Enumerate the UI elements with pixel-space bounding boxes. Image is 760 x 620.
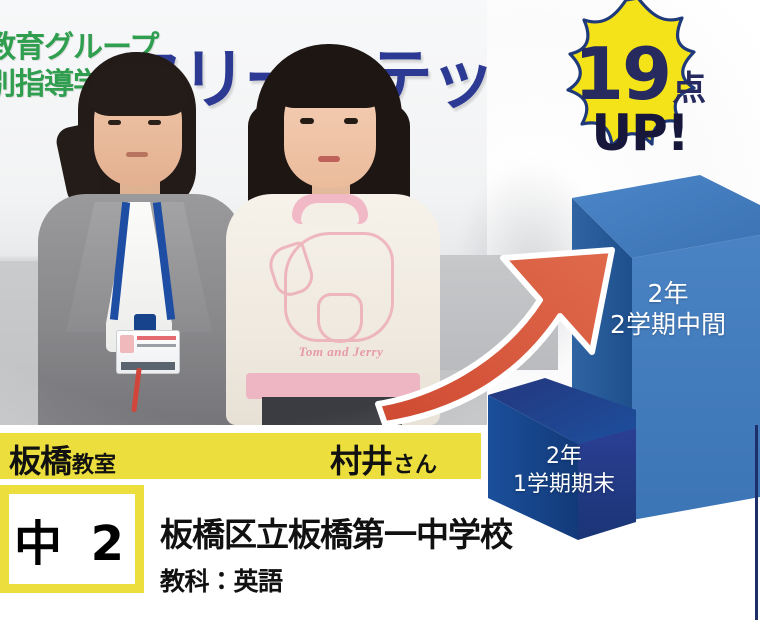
bar-label-line2: 2学期中間 [610,310,726,339]
student-collar [292,194,368,224]
classroom-name: 板橋 [9,436,71,482]
bar-label-line2: 1学期期末 [513,472,615,497]
bar-label-line1: 2年 [546,444,582,469]
instructor-figure [38,52,243,425]
photo-grey-extension [440,255,558,370]
instructor-id-badge [116,330,180,374]
instructor-eye-right [148,120,161,125]
grade-text: 中 2 [14,504,130,574]
badge-points-number: 19 [574,38,670,110]
student-pants [262,397,402,425]
badge-up-label: UP! [591,108,688,158]
school-name: 板橋区立板橋第一中学校 [160,508,490,556]
student-honorific: さん [393,447,437,479]
badge-points-unit: 点 [672,72,706,106]
student-name: 村井 [330,436,392,482]
subject-name: 教科：英語 [160,562,283,598]
classroom-suffix: 教室 [72,447,116,479]
bar-label-2nd-term-midterm: 2年 2学期中間 [588,278,748,341]
student-figure: Tom and Jerry [218,44,448,425]
student-fringe [276,58,384,108]
instructor-fringe [88,64,188,116]
score-up-badge: 19 点 UP! [512,0,760,190]
student-shirt-text: Tom and Jerry [276,344,406,360]
student-photo: 教育グループ別指導学 フリーステップ [0,0,487,425]
bar-label-1st-term-final: 2年 1学期期末 [494,443,634,498]
student-eye-left [300,118,314,124]
student-name-label: 村井 さん [330,436,437,482]
instructor-mouth [126,152,148,157]
result-card: 教育グループ別指導学 フリーステップ [0,0,760,620]
student-shirt-graphic [284,232,394,342]
student-eye-right [344,118,358,124]
grade-box: 中 2 [0,485,144,593]
student-sweatshirt-hem [246,373,420,399]
badge-points-line: 19 点 [574,38,706,110]
student-mouth [318,156,340,162]
classroom-label: 板橋 教室 [9,436,116,482]
badge-text-group: 19 点 UP! [514,0,760,196]
bar-label-line1: 2年 [648,279,689,308]
right-edge-rule [755,425,758,620]
instructor-eye-left [108,120,121,125]
